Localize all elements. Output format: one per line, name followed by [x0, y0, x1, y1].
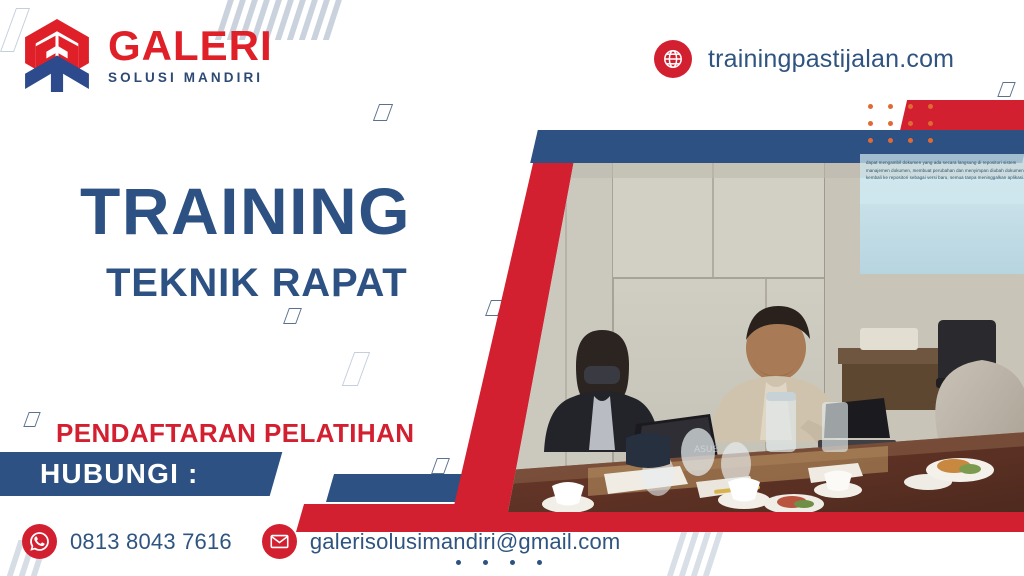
email-icon: [262, 524, 297, 559]
decorative-dots-email: [456, 560, 542, 565]
projector-slide-text: dapat mengambil dokumen yang ada secara …: [860, 154, 1024, 204]
diamond-accent-icon: [431, 458, 450, 474]
website-row[interactable]: trainingpastijalan.com: [654, 40, 954, 78]
page-title: TRAINING: [80, 178, 411, 245]
hubungi-label: HUBUNGI :: [40, 458, 199, 490]
diamond-accent-icon: [23, 412, 40, 427]
decorative-dot-grid: [868, 104, 933, 143]
registration-label: PENDAFTARAN PELATIHAN: [56, 418, 414, 449]
whatsapp-icon: [22, 524, 57, 559]
brand-tagline: SOLUSI MANDIRI: [108, 71, 273, 85]
photo-composition: ASUS: [470, 96, 1024, 520]
diamond-accent-icon: [373, 104, 393, 121]
training-photo-image: ASUS: [508, 152, 1024, 512]
globe-icon: [654, 40, 692, 78]
page-subtitle: TEKNIK RAPAT: [80, 261, 411, 306]
contact-email-label[interactable]: galerisolusimandiri@gmail.com: [310, 529, 621, 555]
diamond-accent-icon: [283, 308, 302, 324]
website-url[interactable]: trainingpastijalan.com: [708, 45, 954, 74]
diamond-accent-icon: [997, 82, 1015, 97]
diamond-accent-icon: [342, 352, 370, 386]
brand-name: GALERI: [108, 26, 273, 66]
headline-block: TRAINING TEKNIK RAPAT: [80, 178, 411, 306]
contact-phone-label[interactable]: 0813 8043 7616: [70, 529, 232, 555]
training-photo: ASUS: [508, 152, 1024, 512]
brand-logo: GALERI SOLUSI MANDIRI: [18, 16, 273, 92]
contact-phone[interactable]: 0813 8043 7616: [22, 524, 232, 559]
galeri-solusi-mandiri-monogram-icon: [18, 16, 96, 92]
